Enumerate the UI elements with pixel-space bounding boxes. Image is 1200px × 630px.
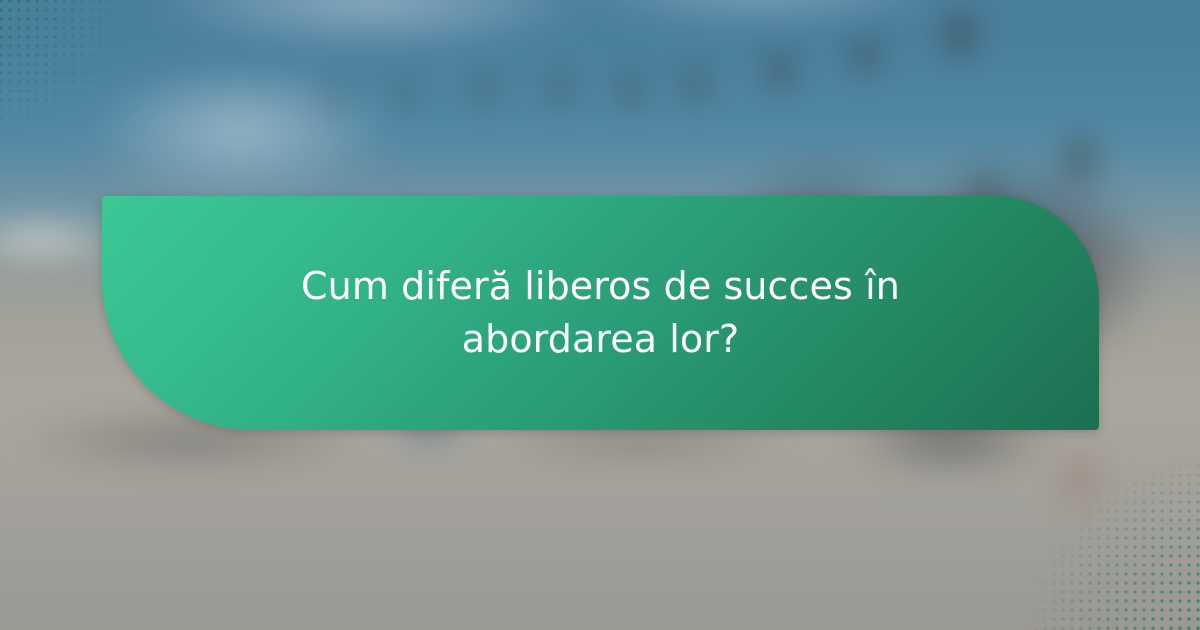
- quote-banner: Cum diferă liberos de succes în abordare…: [102, 196, 1099, 430]
- social-card: Cum diferă liberos de succes în abordare…: [0, 0, 1200, 630]
- question-text: Cum diferă liberos de succes în abordare…: [221, 260, 981, 366]
